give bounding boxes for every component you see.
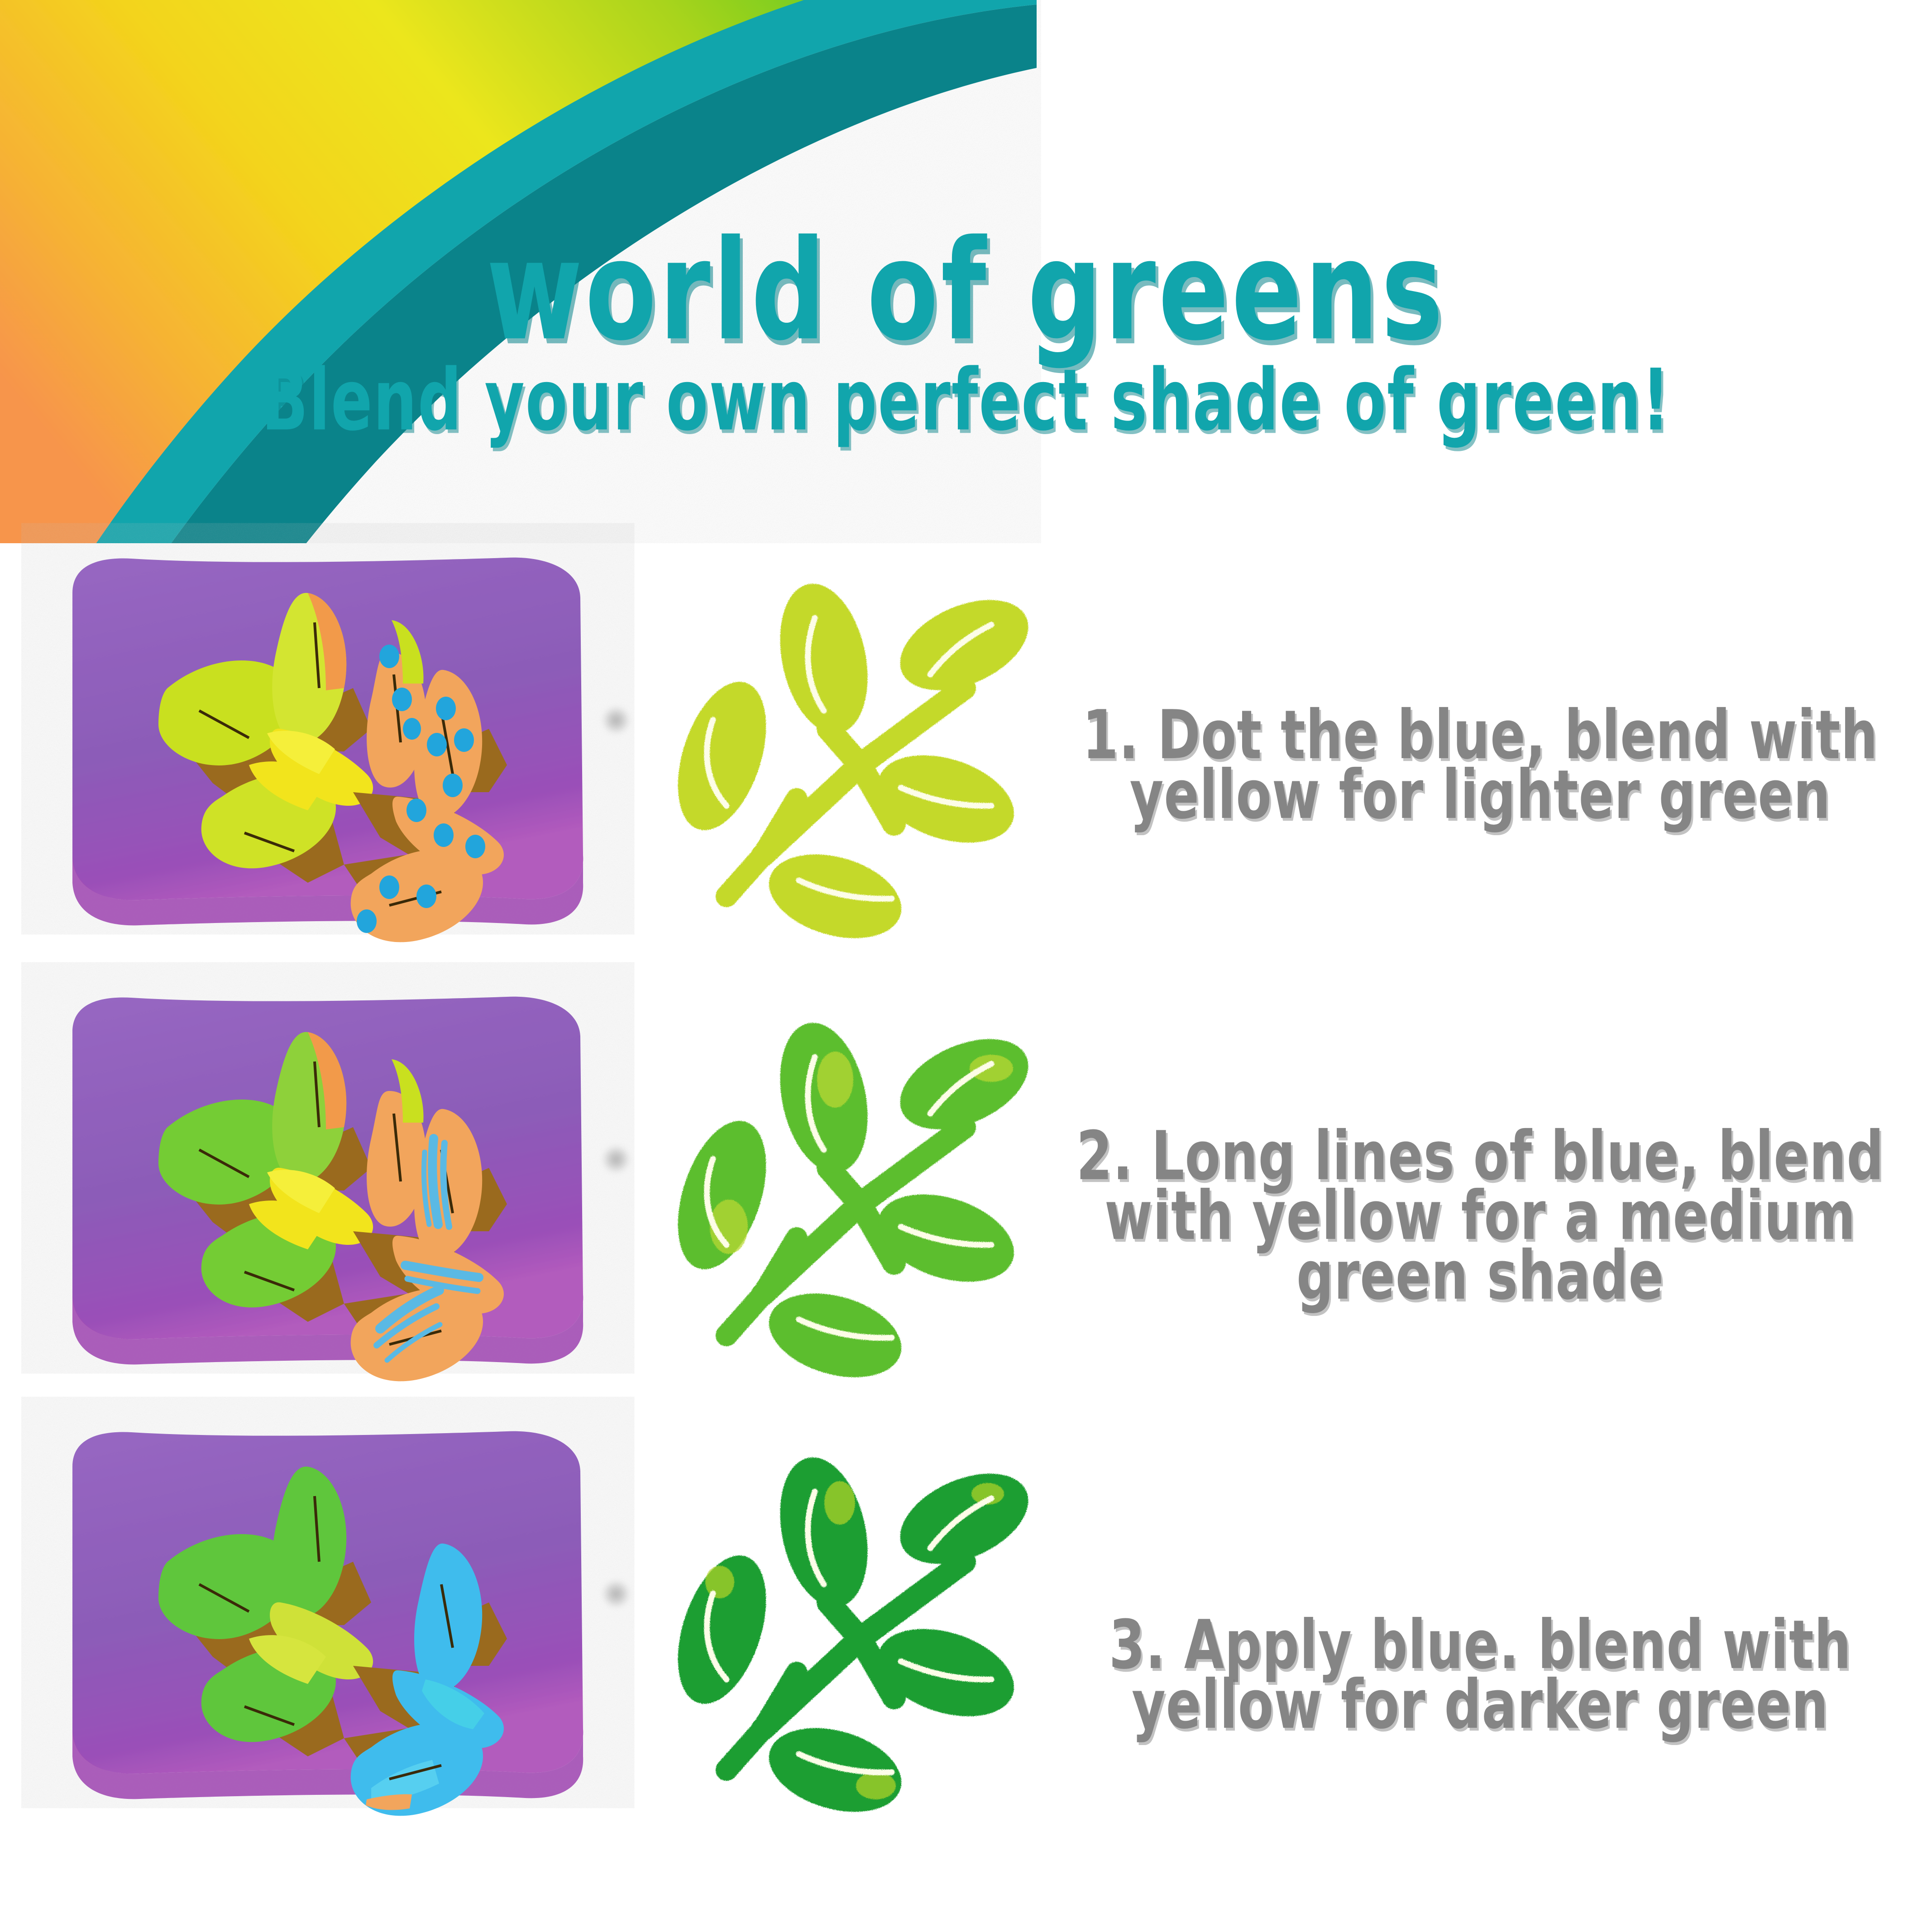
page-subtitle-container: Blend your own perfect shade of green!: [0, 358, 1932, 423]
sponge-illustration-3: [54, 1412, 607, 1820]
step-text-2: 2. Long lines of blue, blend with yellow…: [1055, 1118, 1906, 1297]
sponge-photo-step-3: [54, 1412, 607, 1820]
step-line-2c: green shade: [1067, 1238, 1893, 1313]
step-line-1b: yellow for lighter green: [1067, 757, 1893, 832]
leaf-print-step-3: [647, 1426, 1055, 1824]
leaf-print-step-2: [647, 991, 1055, 1390]
printed-leaves-2: [661, 1015, 1042, 1392]
leaf-print-svg-1: [647, 552, 1055, 951]
sponge-photo-step-2: [54, 978, 607, 1385]
smudge-mark-2: [602, 1145, 643, 1186]
smudge-mark-1: [602, 706, 643, 747]
smudge-mark-3: [602, 1580, 643, 1621]
step-text-1: 1. Dot the blue, blend with yellow for l…: [1055, 697, 1906, 817]
step-text-3: 3. Apply blue. blend with yellow for dar…: [1055, 1607, 1906, 1726]
printed-leaves-3: [661, 1449, 1042, 1826]
step-row-2: 2. Long lines of blue, blend with yellow…: [0, 978, 1932, 1412]
poster-canvas: world of greens Blend your own perfect s…: [0, 0, 1932, 1932]
sponge-illustration-1: [54, 539, 607, 946]
leaf-print-step-1: [647, 552, 1055, 951]
leaf-print-svg-3: [647, 1426, 1055, 1824]
sponge-photo-step-1: [54, 539, 607, 946]
sponge-illustration-2: [54, 978, 607, 1385]
page-title: world of greens: [77, 222, 1855, 360]
step-row-1: 1. Dot the blue, blend with yellow for l…: [0, 539, 1932, 973]
page-subtitle: Blend your own perfect shade of green!: [58, 358, 1874, 442]
leaf-print-svg-2: [647, 991, 1055, 1390]
printed-leaves-1: [661, 576, 1042, 952]
step-line-3b: yellow for darker green: [1067, 1667, 1893, 1742]
step-row-3: 3. Apply blue. blend with yellow for dar…: [0, 1412, 1932, 1847]
page-title-container: world of greens: [0, 222, 1932, 335]
